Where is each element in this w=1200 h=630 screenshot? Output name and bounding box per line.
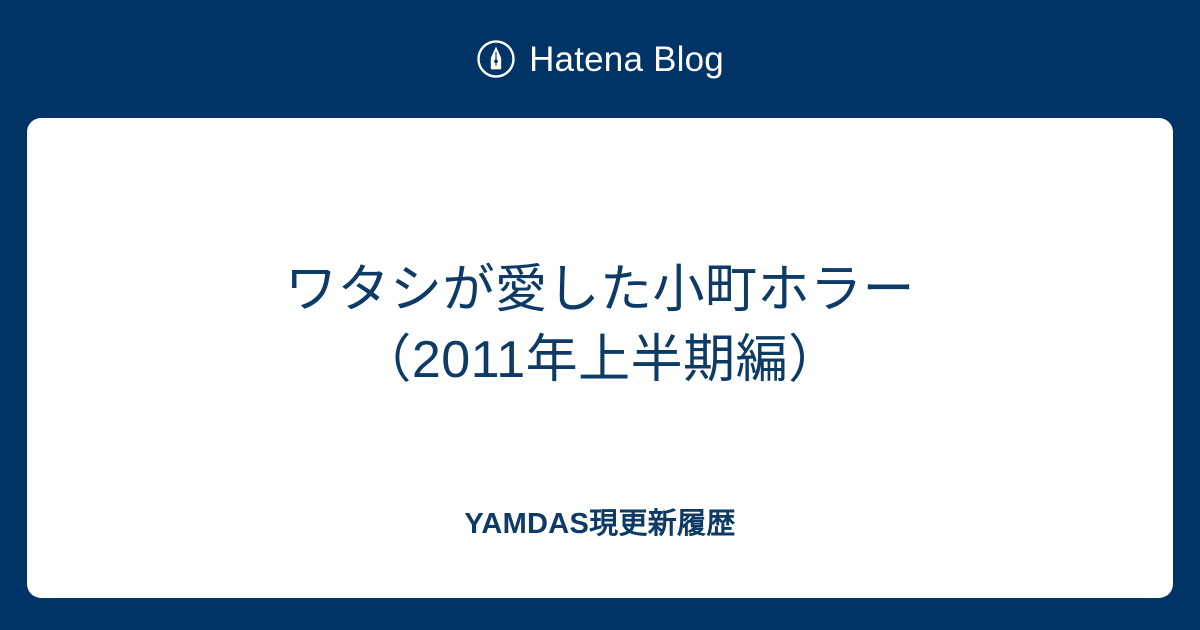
ogp-card-canvas: Hatena Blog ワタシが愛した小町ホラー （2011年上半期編） YAM… [0, 0, 1200, 630]
blog-title: YAMDAS現更新履歴 [27, 507, 1173, 542]
entry-title: ワタシが愛した小町ホラー （2011年上半期編） [27, 256, 1173, 395]
entry-title-line-1: ワタシが愛した小町ホラー [97, 256, 1103, 326]
brand-name: Hatena Blog [529, 42, 724, 77]
pen-nib-circle-icon [476, 39, 516, 79]
content-card: ワタシが愛した小町ホラー （2011年上半期編） YAMDAS現更新履歴 [27, 118, 1173, 598]
brand-header: Hatena Blog [0, 0, 1200, 118]
entry-title-line-2: （2011年上半期編） [97, 326, 1103, 396]
